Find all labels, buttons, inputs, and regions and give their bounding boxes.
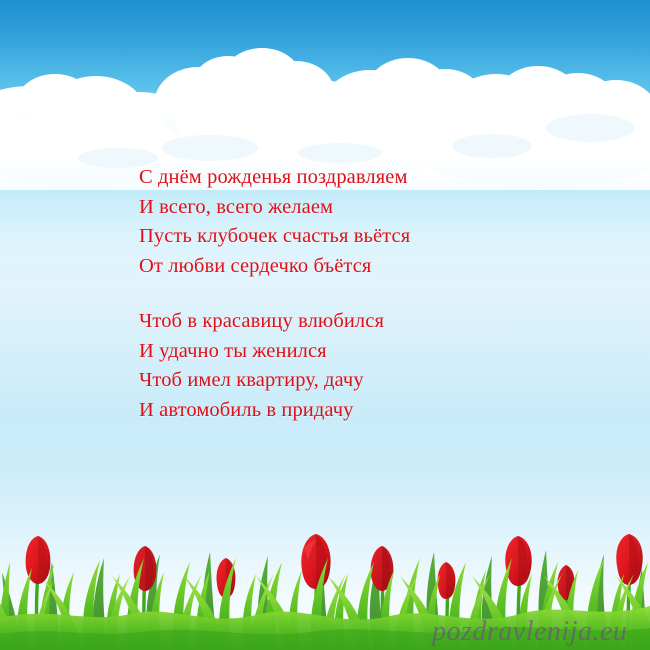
poem-line: Чтоб в красавицу влюбился (139, 307, 559, 337)
tulip-head (505, 536, 531, 586)
cloud-shading (78, 114, 634, 168)
poem-line: С днём рожденья поздравляем (139, 163, 559, 193)
poem-line: От любви сердечко бъётся (139, 252, 559, 282)
poem-line: И всего, всего желаем (139, 193, 559, 223)
clouds-svg (0, 0, 650, 190)
poem-line: Чтоб имел квартиру, дачу (139, 366, 559, 396)
tulip-head (301, 534, 330, 589)
poem-line: И удачно ты женился (139, 337, 559, 367)
tulip-head (438, 562, 456, 599)
site-watermark: pozdravlenija.eu (432, 617, 646, 647)
cloud-band (0, 0, 650, 185)
poem-text: С днём рожденья поздравляем И всего, все… (139, 163, 559, 425)
tulip-head (616, 534, 642, 585)
poem-line: Пусть клубочек счастья вьётся (139, 222, 559, 252)
poem-stanza-2: Чтоб в красавицу влюбился И удачно ты же… (139, 307, 559, 425)
greeting-card: С днём рожденья поздравляем И всего, все… (0, 0, 650, 650)
poem-line: И автомобиль в придачу (139, 396, 559, 426)
poem-stanza-1: С днём рожденья поздравляем И всего, все… (139, 163, 559, 281)
